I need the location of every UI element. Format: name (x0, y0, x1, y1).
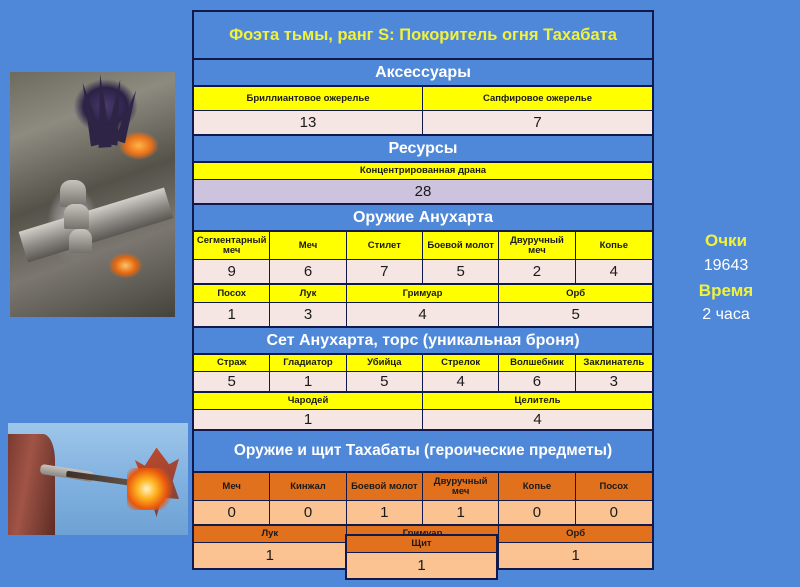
section-title-anuhart-set: Сет Анухарта, торс (уникальная броня) (194, 328, 652, 355)
section-title-accessories: Аксессуары (194, 60, 652, 87)
value-cell: 0 (270, 501, 346, 526)
mage-staff-artwork (8, 423, 188, 535)
header-cell: Лук (194, 526, 347, 543)
table-row: 1 (347, 553, 496, 578)
table-row: 1 3 4 5 (194, 303, 652, 328)
value-cell: 1 (499, 543, 652, 568)
mage-staff-art-surface (8, 423, 188, 535)
value-cell: 1 (194, 410, 423, 431)
table-row: Сегментарный меч Меч Стилет Боевой молот… (194, 232, 652, 260)
shield-block: Щит 1 (345, 534, 498, 580)
table-row: 5 1 5 4 6 3 (194, 372, 652, 393)
section-title-resources: Ресурсы (194, 136, 652, 163)
time-value: 2 часа (660, 303, 792, 327)
value-cell: 6 (270, 260, 346, 285)
header-cell: Копье (576, 232, 652, 260)
header-cell: Кинжал (270, 473, 346, 501)
value-cell: 4 (423, 410, 652, 431)
value-cell: 1 (347, 501, 423, 526)
blade-shape (19, 188, 173, 263)
header-cell: Убийца (347, 355, 423, 372)
value-cell: 1 (270, 372, 346, 393)
dragon-armour-artwork (10, 72, 175, 317)
points-label: Очки (660, 228, 792, 254)
table-row: Бриллиантовое ожерелье Сапфировое ожерел… (194, 87, 652, 111)
score-panel: Очки 19643 Время 2 часа (660, 228, 792, 327)
section-title-tahabata: Оружие и щит Тахабаты (героические предм… (194, 431, 652, 473)
header-cell: Гладиатор (270, 355, 346, 372)
header-cell: Страж (194, 355, 270, 372)
section-header-resources: Ресурсы (194, 136, 652, 163)
header-cell: Орб (499, 526, 652, 543)
header-cell: Стрелок (423, 355, 499, 372)
table-row: Страж Гладиатор Убийца Стрелок Волшебник… (194, 355, 652, 372)
points-value: 19643 (660, 254, 792, 278)
table-row: Концентрированная драна (194, 163, 652, 180)
header-cell: Меч (270, 232, 346, 260)
header-cell: Чародей (194, 393, 423, 410)
header-cell: Заклинатель (576, 355, 652, 372)
time-label: Время (660, 278, 792, 304)
section-header-anuhart-weapons: Оружие Анухарта (194, 205, 652, 232)
header-cell: Щит (347, 536, 496, 553)
value-cell: 0 (194, 501, 270, 526)
glowing-orb-shape (127, 468, 174, 511)
value-cell: 1 (194, 303, 270, 328)
stats-table: Фоэта тьмы, ранг S: Покоритель огня Таха… (192, 10, 654, 570)
value-cell: 4 (423, 372, 499, 393)
header-cell: Двуручный меч (499, 232, 575, 260)
header-cell: Волшебник (499, 355, 575, 372)
table-row: Меч Кинжал Боевой молот Двуручный меч Ко… (194, 473, 652, 501)
header-cell: Боевой молот (347, 473, 423, 501)
header-cell: Стилет (347, 232, 423, 260)
value-cell: 0 (499, 501, 575, 526)
value-cell: 3 (270, 303, 346, 328)
value-cell: 7 (347, 260, 423, 285)
header-cell: Меч (194, 473, 270, 501)
dragon-armour-art-surface (10, 72, 175, 317)
table-row: Щит (347, 536, 496, 553)
scale-shape (69, 229, 92, 254)
value-cell: 0 (576, 501, 652, 526)
value-cell: 13 (194, 111, 423, 136)
header-cell: Копье (499, 473, 575, 501)
header-cell: Орб (499, 285, 652, 303)
section-title-anuhart-weapons: Оружие Анухарта (194, 205, 652, 232)
page-title: Фоэта тьмы, ранг S: Покоритель огня Таха… (194, 12, 652, 60)
header-cell: Двуручный меч (423, 473, 499, 501)
value-cell: 9 (194, 260, 270, 285)
scale-shape (60, 180, 86, 207)
section-header-accessories: Аксессуары (194, 60, 652, 87)
header-cell: Бриллиантовое ожерелье (194, 87, 423, 111)
header-cell: Гримуар (347, 285, 500, 303)
header-cell: Посох (194, 285, 270, 303)
header-cell: Концентрированная драна (194, 163, 652, 180)
header-cell: Лук (270, 285, 346, 303)
value-cell: 2 (499, 260, 575, 285)
header-cell: Сегментарный меч (194, 232, 270, 260)
value-cell: 5 (194, 372, 270, 393)
value-cell: 6 (499, 372, 575, 393)
section-header-anuhart-set: Сет Анухарта, торс (уникальная броня) (194, 328, 652, 355)
value-cell: 3 (576, 372, 652, 393)
table-row: Чародей Целитель (194, 393, 652, 410)
table-row: 1 4 (194, 410, 652, 431)
scale-shape (64, 204, 89, 229)
value-cell: 1 (423, 501, 499, 526)
header-cell: Посох (576, 473, 652, 501)
value-cell: 4 (576, 260, 652, 285)
value-cell: 5 (499, 303, 652, 328)
table-row: 28 (194, 180, 652, 205)
value-cell: 5 (423, 260, 499, 285)
table-row: 13 7 (194, 111, 652, 136)
value-cell: 1 (347, 553, 496, 578)
table-row: 9 6 7 5 2 4 (194, 260, 652, 285)
value-cell: 1 (194, 543, 347, 568)
table-row: 0 0 1 1 0 0 (194, 501, 652, 526)
character-body-shape (8, 434, 55, 535)
value-cell: 4 (347, 303, 500, 328)
section-header-tahabata: Оружие и щит Тахабаты (героические предм… (194, 431, 652, 473)
header-cell: Сапфировое ожерелье (423, 87, 652, 111)
value-cell: 7 (423, 111, 652, 136)
header-cell: Целитель (423, 393, 652, 410)
header-cell: Боевой молот (423, 232, 499, 260)
value-cell: 5 (347, 372, 423, 393)
table-row: Посох Лук Гримуар Орб (194, 285, 652, 303)
value-cell: 28 (194, 180, 652, 205)
